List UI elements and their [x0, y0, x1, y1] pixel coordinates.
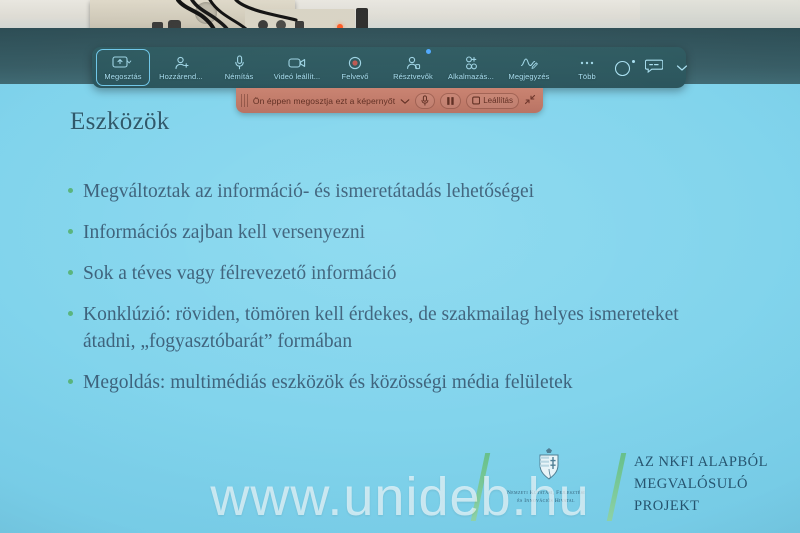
bullet-dot-icon: [68, 379, 73, 384]
toolbar-label-annotation: Megjegyzés: [508, 72, 549, 81]
drag-grip-icon[interactable]: [241, 94, 248, 107]
microphone-icon: [234, 55, 245, 70]
bullet-text: Megoldás: multimédiás eszközök és közöss…: [83, 369, 573, 396]
list-item: Megváltoztak az információ- és ismeretát…: [68, 178, 708, 205]
bullet-text: Megváltoztak az információ- és ismeretát…: [83, 178, 534, 205]
slide-footer-logos: Nemzeti Kutatási, Fejlesztési és Innovác…: [468, 437, 800, 533]
project-label: AZ NKFI ALAPBÓL MEGVALÓSULÓ PROJEKT: [634, 451, 768, 517]
toolbar-item-more[interactable]: Több: [560, 47, 614, 88]
chat-captions-icon[interactable]: [645, 58, 663, 78]
apps-add-icon: [464, 55, 479, 70]
toolbar-item-video[interactable]: Videó leállít...: [270, 47, 324, 88]
toolbar-label-mute: Némítás: [225, 72, 254, 81]
project-line-2: MEGVALÓSULÓ: [634, 473, 768, 495]
project-line-1: AZ NKFI ALAPBÓL: [634, 451, 768, 473]
list-item: Sok a téves vagy félrevezető információ: [68, 260, 708, 287]
reactions-circle-icon[interactable]: [614, 59, 632, 77]
assign-person-icon: [174, 55, 189, 70]
sharing-status-text: Ön éppen megosztja ezt a képernyőt: [253, 96, 395, 106]
slide-bullet-list: Megváltoztak az információ- és ismeretát…: [68, 178, 708, 410]
list-item: Konklúzió: röviden, tömören kell érdekes…: [68, 301, 708, 355]
share-screen-icon: [112, 55, 134, 70]
sharing-stop-button[interactable]: Leállítás: [466, 93, 519, 109]
annotation-pen-icon: [520, 55, 538, 70]
toolbar-label-share: Megosztás: [104, 72, 141, 81]
screenshot-root: Megosztás Hozzárend... N: [0, 0, 800, 533]
toolbar-item-participants[interactable]: Résztvevők: [386, 47, 440, 88]
list-item: Információs zajban kell versenyezni: [68, 219, 708, 246]
sharing-pause-button[interactable]: [440, 93, 461, 109]
sharing-mic-button[interactable]: [415, 93, 435, 109]
agency-name-line1: Nemzeti Kutatási, Fejlesztési: [482, 489, 610, 497]
agency-name-line2: és Innovációs Hivatal: [482, 497, 610, 505]
bullet-text: Konklúzió: röviden, tömören kell érdekes…: [83, 301, 693, 355]
participants-icon: [406, 55, 421, 70]
sharing-stop-label: Leállítás: [483, 96, 513, 105]
bullet-text: Információs zajban kell versenyezni: [83, 219, 365, 246]
toolbar-item-mute[interactable]: Némítás: [212, 47, 266, 88]
bullet-dot-icon: [68, 229, 73, 234]
meeting-toolbar[interactable]: Megosztás Hozzárend... N: [92, 47, 686, 88]
toolbar-right-group: [614, 47, 694, 88]
slide-title: Eszközök: [70, 108, 170, 136]
toolbar-item-assign[interactable]: Hozzárend...: [154, 47, 208, 88]
bullet-dot-icon: [68, 188, 73, 193]
toolbar-label-more: Több: [578, 72, 596, 81]
toolbar-label-assign: Hozzárend...: [159, 72, 203, 81]
toolbar-label-video: Videó leállít...: [274, 72, 321, 81]
bullet-text: Sok a téves vagy félrevezető információ: [83, 260, 397, 287]
accent-bar-left: [471, 453, 490, 521]
record-icon: [348, 55, 362, 70]
agency-name: Nemzeti Kutatási, Fejlesztési és Innovác…: [482, 489, 610, 505]
bullet-dot-icon: [68, 270, 73, 275]
toolbar-label-record: Felvevő: [342, 72, 369, 81]
project-line-3: PROJEKT: [634, 495, 768, 517]
toolbar-item-record[interactable]: Felvevő: [328, 47, 382, 88]
chevron-down-icon[interactable]: [676, 59, 688, 77]
bullet-dot-icon: [68, 311, 73, 316]
collapse-arrows-icon[interactable]: [524, 94, 538, 108]
toolbar-label-apps: Alkalmazás...: [448, 72, 494, 81]
accent-bar-right: [607, 453, 626, 521]
pause-icon: [446, 96, 455, 106]
microphone-icon: [421, 95, 429, 106]
toolbar-item-annotation[interactable]: Megjegyzés: [502, 47, 556, 88]
stop-square-icon: [472, 96, 480, 105]
more-ellipsis-icon: [579, 55, 595, 70]
participants-notification-badge: [426, 49, 431, 54]
camera-icon: [288, 55, 306, 70]
list-item: Megoldás: multimédiás eszközök és közöss…: [68, 369, 708, 396]
toolbar-item-share[interactable]: Megosztás: [96, 49, 150, 86]
toolbar-label-participants: Résztvevők: [393, 72, 433, 81]
hungary-coat-of-arms-icon: [536, 447, 562, 488]
screen-sharing-bar[interactable]: Ön éppen megosztja ezt a képernyőt Leáll: [236, 88, 543, 113]
reactions-indicator-dot: [632, 60, 635, 63]
chevron-down-icon[interactable]: [400, 92, 410, 110]
toolbar-item-apps[interactable]: Alkalmazás...: [444, 47, 498, 88]
